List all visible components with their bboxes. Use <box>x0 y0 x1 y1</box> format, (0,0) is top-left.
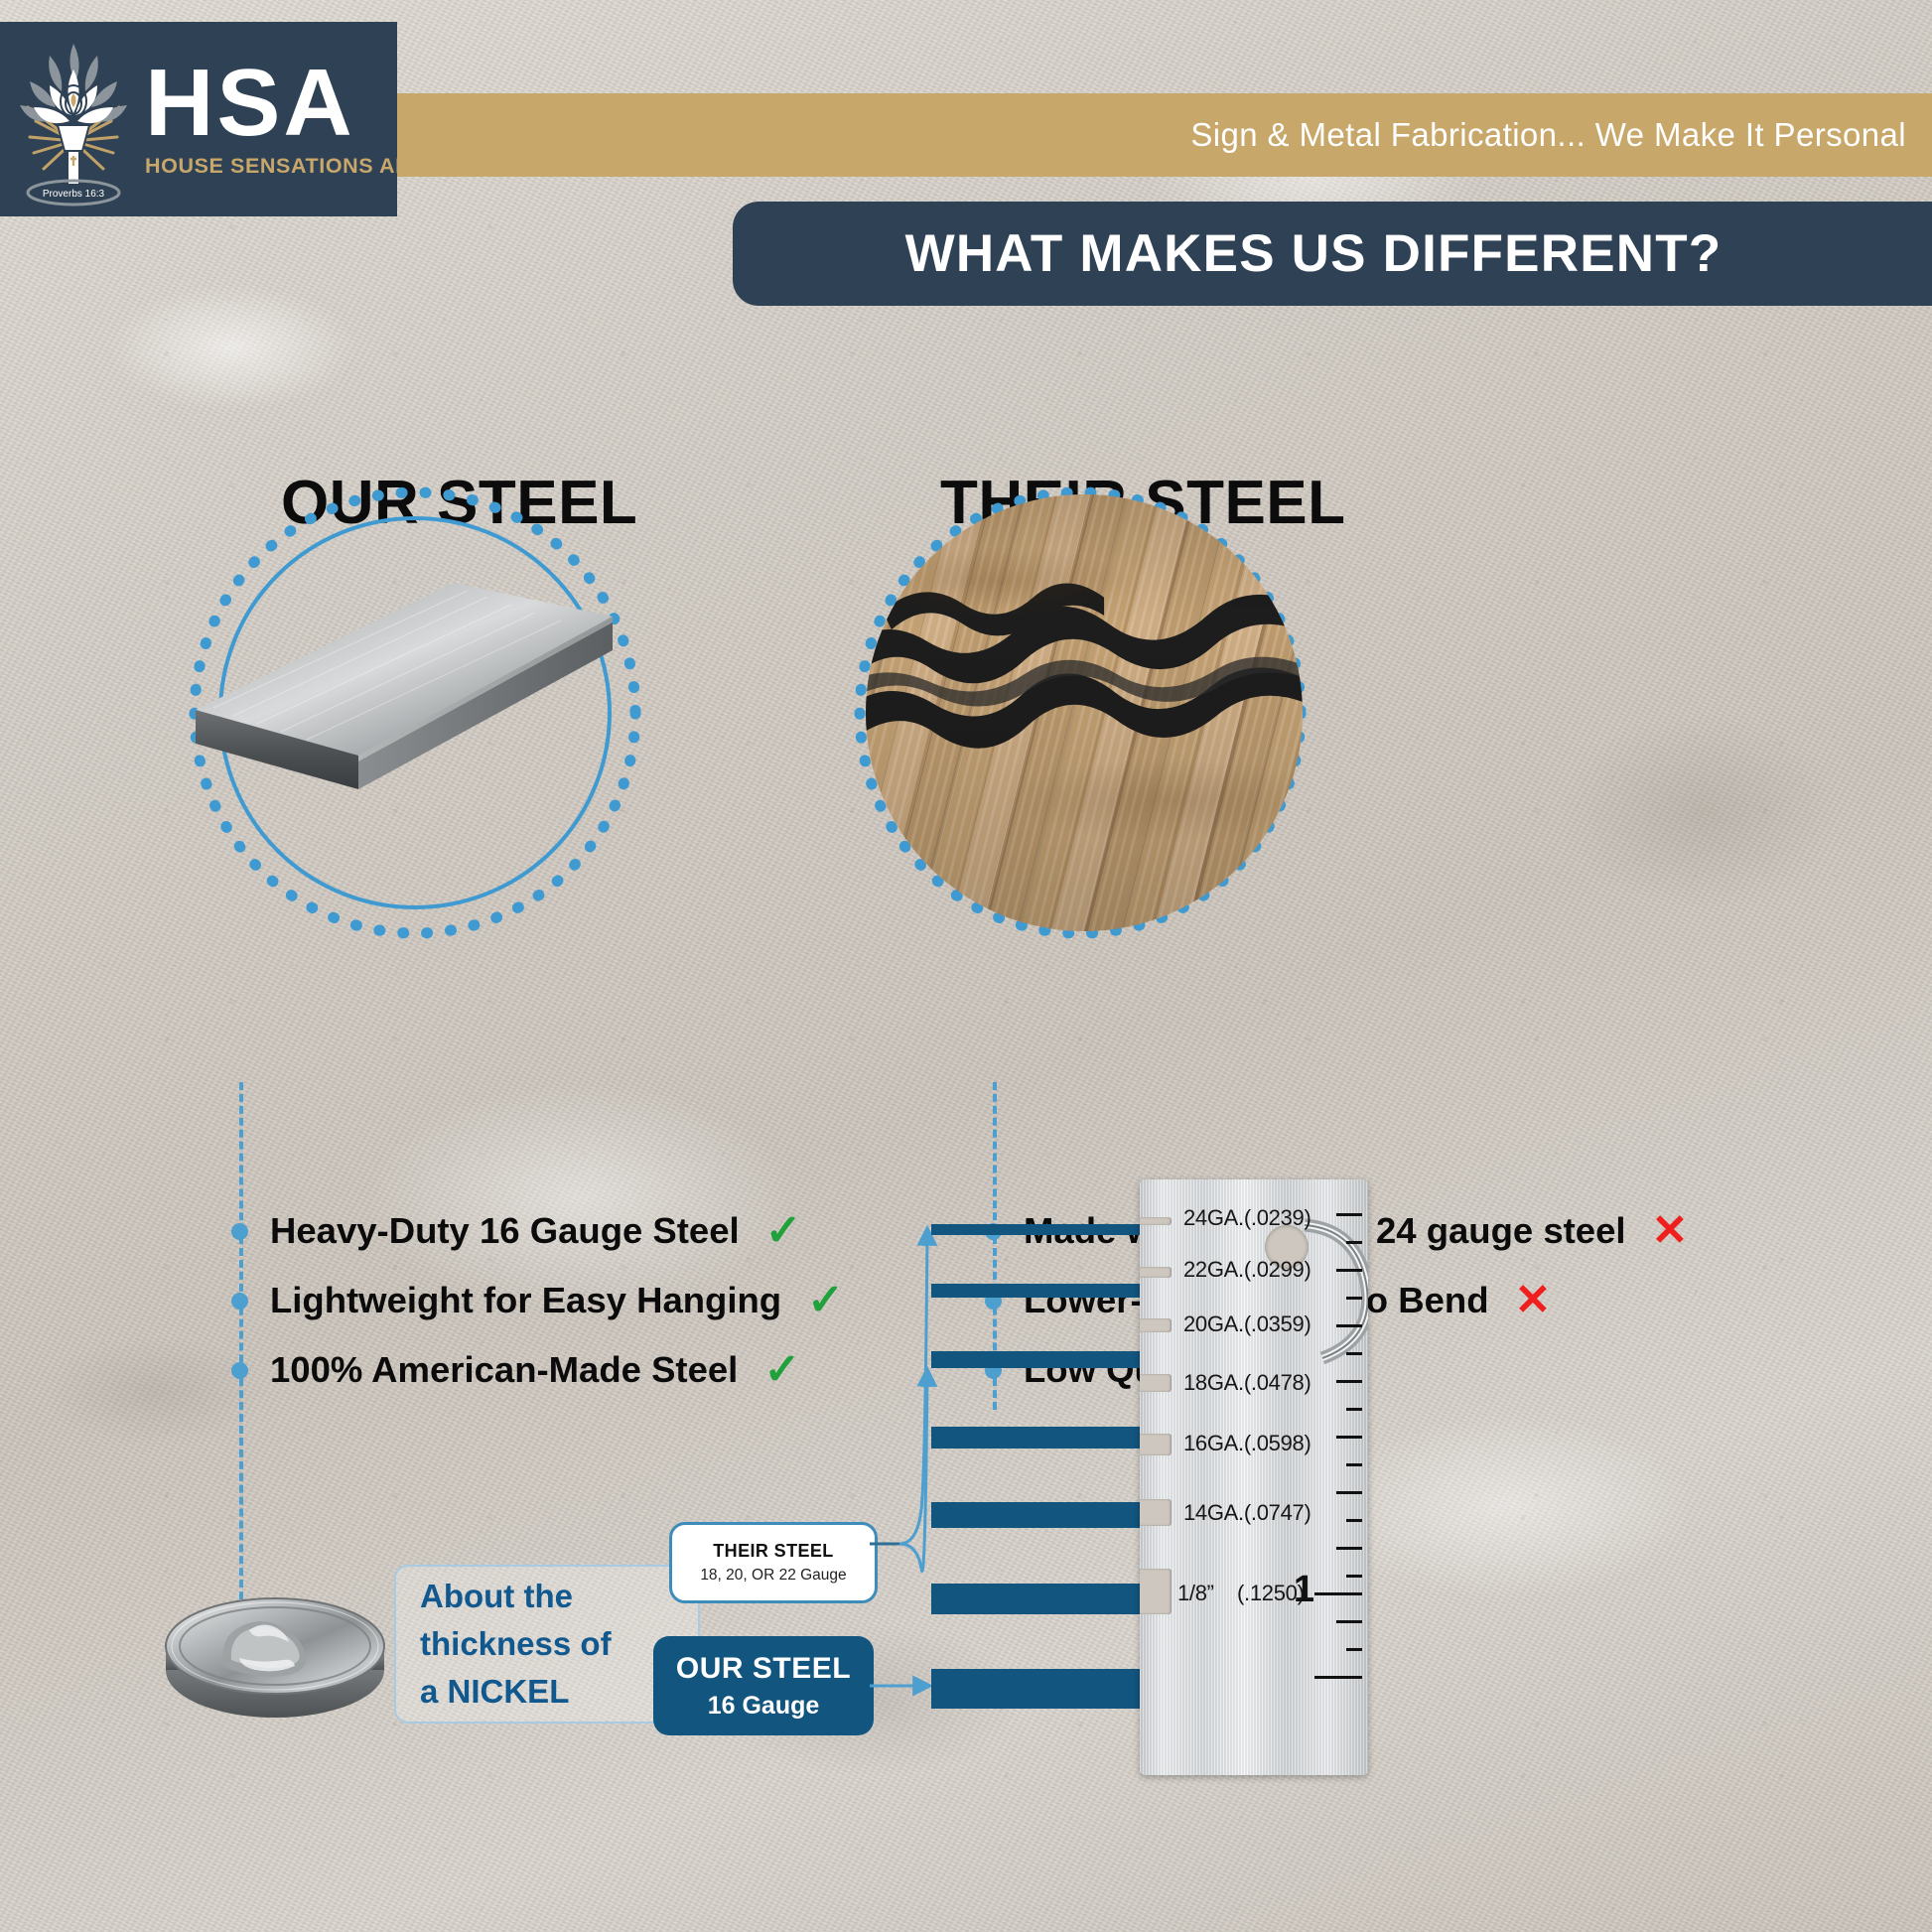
gauge-label: 14GA.(.0747) <box>1183 1500 1311 1526</box>
brand-logo: Proverbs 16:3 HSA HOUSE SENSATIONS ART <box>0 22 397 216</box>
list-item: Lightweight for Easy Hanging ✓ <box>231 1279 844 1322</box>
logo-company-name: HOUSE SENSATIONS ART <box>145 154 425 179</box>
gauge-slot <box>1140 1318 1172 1332</box>
gauge-slot <box>1140 1499 1172 1526</box>
gauge-bar <box>931 1502 1148 1528</box>
gauge-bar <box>931 1284 1148 1298</box>
ruler-tick <box>1336 1213 1362 1216</box>
gauge-bar <box>931 1584 1148 1614</box>
gauge-bar <box>931 1427 1148 1449</box>
our-dashed-connector <box>239 1082 243 1611</box>
title-banner: WHAT MAKES US DIFFERENT? <box>733 202 1932 306</box>
ruler-tick <box>1336 1269 1362 1272</box>
check-icon: ✓ <box>807 1279 844 1322</box>
cross-icon: ✕ <box>1652 1209 1689 1253</box>
ruler-tick <box>1346 1519 1362 1522</box>
bullet-text: Lightweight for Easy Hanging <box>270 1280 781 1321</box>
check-icon: ✓ <box>763 1348 800 1392</box>
ruler-tick <box>1346 1297 1362 1300</box>
gauge-label: 18GA.(.0478) <box>1183 1370 1311 1396</box>
gauge-label: 22GA.(.0299) <box>1183 1257 1311 1283</box>
nickel-line-1: About the <box>420 1573 698 1620</box>
gauge-label: 16GA.(.0598) <box>1183 1431 1311 1456</box>
gauge-ruler: 24GA.(.0239) 22GA.(.0299) 20GA.(.0359) 1… <box>1140 1179 1368 1775</box>
page-title: WHAT MAKES US DIFFERENT? <box>905 223 1723 284</box>
brand-tagline: Sign & Metal Fabrication... We Make It P… <box>1190 93 1906 177</box>
list-item: 100% American-Made Steel ✓ <box>231 1348 800 1392</box>
gauge-slot <box>1140 1374 1172 1392</box>
ruler-tick <box>1336 1436 1362 1439</box>
logo-verse-text: Proverbs 16:3 <box>43 189 105 200</box>
ruler-tick <box>1346 1241 1362 1244</box>
their-box-title: THEIR STEEL <box>713 1541 833 1562</box>
gauge-bar <box>931 1669 1148 1709</box>
inch-mark-label: 1 <box>1294 1569 1314 1611</box>
gauge-fraction-label: 1/8” <box>1177 1581 1214 1606</box>
gauge-label: 24GA.(.0239) <box>1183 1205 1311 1231</box>
bullet-dot-icon <box>231 1223 248 1240</box>
bullet-text: Heavy-Duty 16 Gauge Steel <box>270 1210 740 1252</box>
gauge-slot <box>1140 1267 1172 1278</box>
bullet-text: 100% American-Made Steel <box>270 1349 738 1391</box>
ruler-tick <box>1336 1380 1362 1383</box>
our-box-subtitle: 16 Gauge <box>708 1692 820 1721</box>
bent-metal-sign-photo <box>866 494 1303 931</box>
ruler-tick <box>1346 1463 1362 1466</box>
gauge-slot <box>1140 1434 1172 1455</box>
gauge-slot <box>1140 1217 1172 1225</box>
ruler-tick <box>1346 1575 1362 1578</box>
bullet-dot-icon <box>231 1293 248 1310</box>
list-item: Heavy-Duty 16 Gauge Steel ✓ <box>231 1209 802 1253</box>
ruler-tick <box>1336 1491 1362 1494</box>
ruler-tick <box>1346 1352 1362 1355</box>
gauge-label: 20GA.(.0359) <box>1183 1311 1311 1337</box>
their-box-subtitle: 18, 20, OR 22 Gauge <box>700 1567 846 1585</box>
ruler-tick <box>1336 1547 1362 1550</box>
cross-icon: ✕ <box>1515 1279 1552 1322</box>
ruler-tick <box>1314 1676 1362 1679</box>
logo-initials: HSA <box>145 60 425 147</box>
ruler-tick <box>1346 1648 1362 1651</box>
split-ring-icon <box>1245 1209 1368 1368</box>
ruler-tick <box>1346 1408 1362 1411</box>
their-steel-gauge-box: THEIR STEEL 18, 20, OR 22 Gauge <box>669 1522 878 1603</box>
steel-bar-illustration <box>184 561 621 809</box>
our-steel-gauge-box: OUR STEEL 16 Gauge <box>653 1636 874 1735</box>
gauge-bar <box>931 1224 1148 1235</box>
torch-lotus-logo-icon: Proverbs 16:3 <box>6 30 141 208</box>
ruler-tick <box>1336 1620 1362 1623</box>
nickel-coin-image <box>154 1549 402 1737</box>
ruler-tick <box>1314 1592 1362 1595</box>
gauge-thickness-bars <box>931 1216 1148 1772</box>
check-icon: ✓ <box>765 1209 802 1253</box>
gauge-bar <box>931 1351 1148 1368</box>
our-box-title: OUR STEEL <box>676 1652 851 1686</box>
bullet-dot-icon <box>231 1362 248 1379</box>
gauge-slot <box>1140 1569 1172 1614</box>
ruler-tick <box>1336 1324 1362 1327</box>
